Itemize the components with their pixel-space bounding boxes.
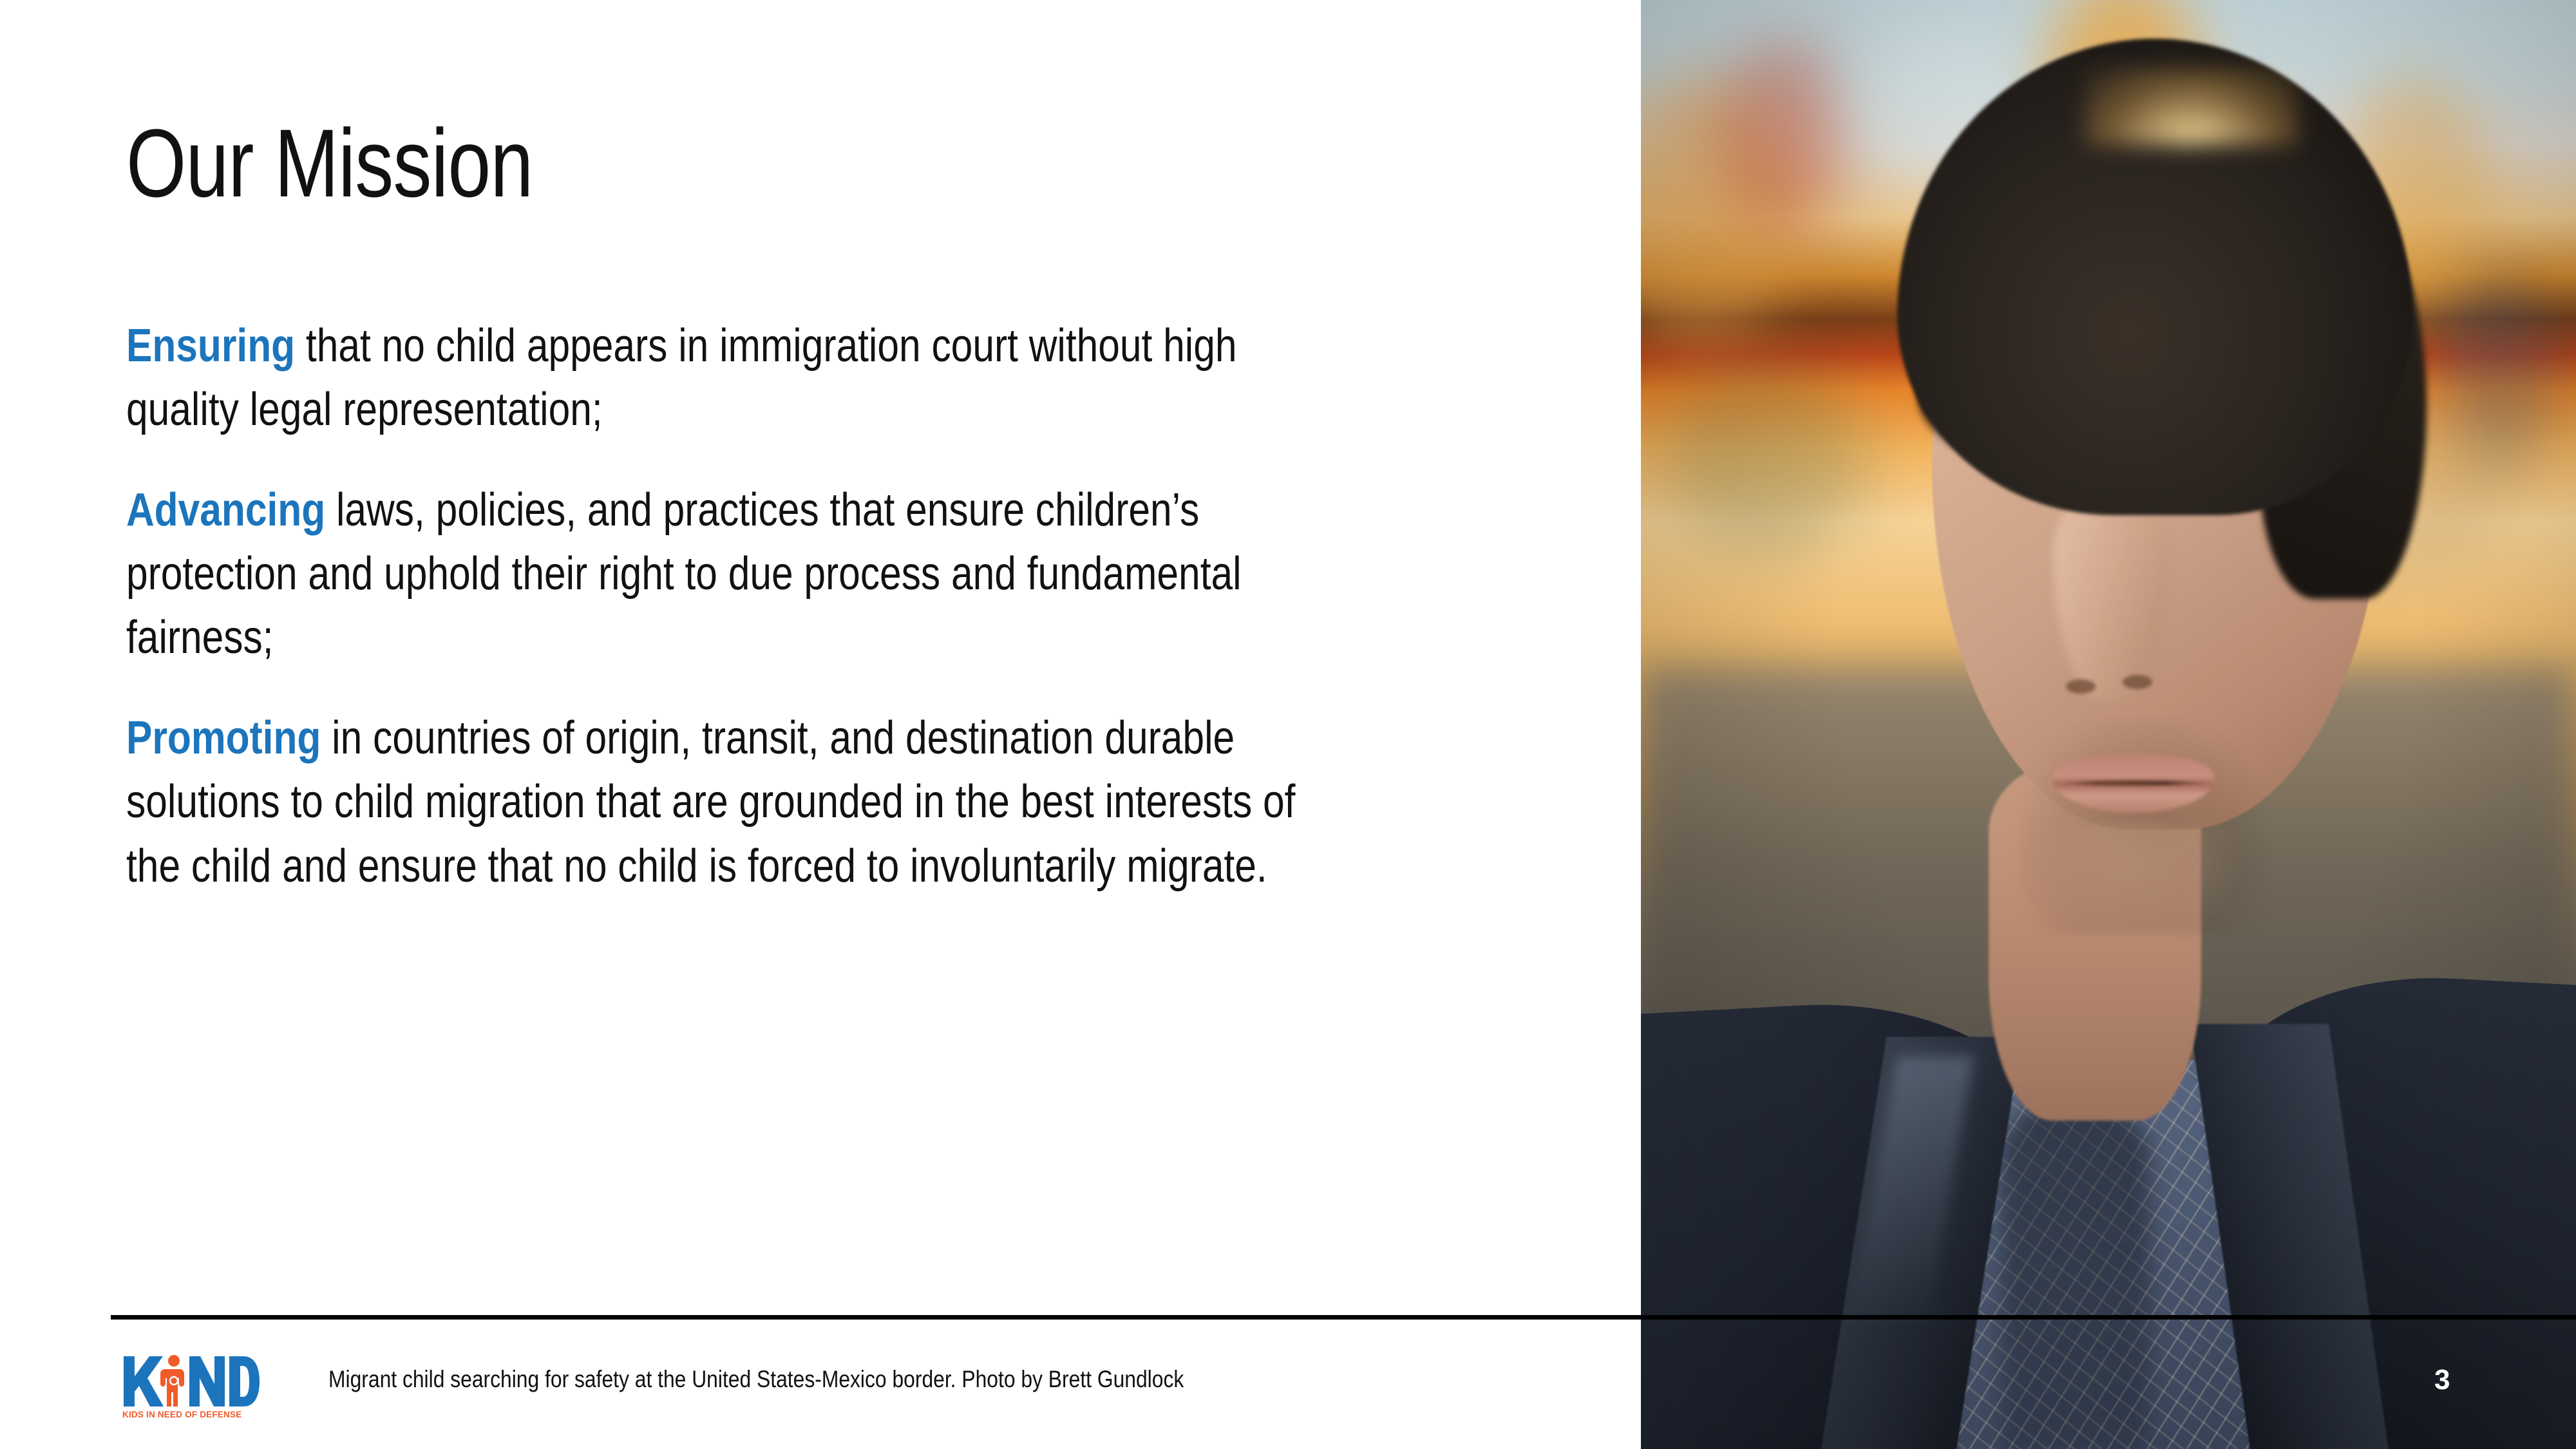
mission-lead-word: Advancing: [126, 484, 325, 536]
mission-paragraph: Promoting in countries of origin, transi…: [126, 706, 1343, 898]
presentation-slide: Our Mission Ensuring that no child appea…: [0, 0, 2576, 1449]
kind-logo: KIDS IN NEED OF DEFENSE: [121, 1352, 260, 1419]
slide-number: 3: [2434, 1364, 2450, 1396]
logo-tagline: KIDS IN NEED OF DEFENSE: [122, 1410, 241, 1419]
mission-lead-word: Ensuring: [126, 320, 295, 372]
mission-statement-list: Ensuring that no child appears in immigr…: [126, 314, 1607, 898]
mission-paragraph: Ensuring that no child appears in immigr…: [126, 314, 1343, 442]
mission-lead-word: Promoting: [126, 712, 321, 764]
portrait-photo: [1641, 0, 2576, 1449]
mission-paragraph: Advancing laws, policies, and practices …: [126, 478, 1343, 670]
content-panel: Our Mission Ensuring that no child appea…: [0, 0, 1641, 1449]
footer-divider: [111, 1315, 2576, 1320]
photo-vignette: [1641, 0, 2576, 1449]
photo-caption: Migrant child searching for safety at th…: [328, 1366, 1184, 1393]
page-title: Our Mission: [126, 115, 533, 211]
